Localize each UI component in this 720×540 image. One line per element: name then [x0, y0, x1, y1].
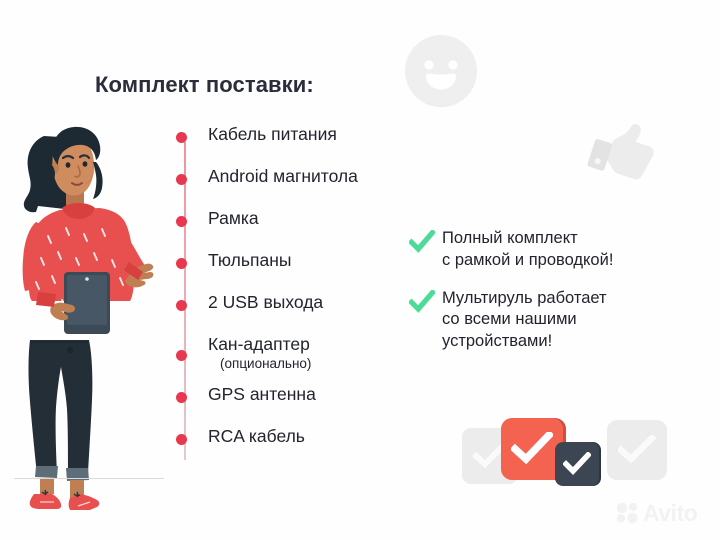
check-mark-icon	[409, 290, 435, 314]
checkbox-card-gray-right	[607, 420, 667, 480]
bullet-dot-icon	[176, 216, 187, 227]
check-mark-icon	[618, 435, 656, 465]
bullet-dot-icon	[176, 132, 187, 143]
kit-list: Кабель питания Android магнитола Рамка Т…	[176, 126, 416, 470]
page-title: Комплект поставки:	[95, 72, 314, 98]
list-item-label: Кан-адаптер(опционально)	[208, 336, 311, 370]
list-item: GPS антенна	[176, 386, 416, 428]
avito-logo-icon	[616, 502, 640, 524]
bullet-dot-icon	[176, 300, 187, 311]
list-item: Тюльпаны	[176, 252, 416, 294]
list-item: Рамка	[176, 210, 416, 252]
bullet-dot-icon	[176, 392, 187, 403]
benefits-list: Полный комплект с рамкой и проводкой! Му…	[409, 228, 709, 369]
smiley-face-icon	[404, 34, 478, 108]
list-item: 2 USB выхода	[176, 294, 416, 336]
promo-banner: Avito Комплект поставки: Кабель питания …	[0, 0, 720, 540]
bullet-dot-icon	[176, 434, 187, 445]
checkbox-cards-illustration	[462, 414, 652, 494]
benefit-item: Мультируль работает со всеми нашими устр…	[409, 288, 709, 353]
list-item-sublabel: (опционально)	[220, 357, 311, 371]
list-item-label: Рамка	[208, 210, 259, 228]
list-item-label: Тюльпаны	[208, 252, 291, 270]
check-mark-icon	[563, 452, 591, 476]
benefit-label: Полный комплект с рамкой и проводкой!	[442, 228, 613, 272]
list-item: Android магнитола	[176, 168, 416, 210]
bullet-dot-icon	[176, 174, 187, 185]
benefit-item: Полный комплект с рамкой и проводкой!	[409, 228, 709, 272]
check-mark-icon	[511, 432, 553, 466]
list-item: RCA кабель	[176, 428, 416, 470]
list-item-label: 2 USB выхода	[208, 294, 323, 312]
list-item: Кан-адаптер(опционально)	[176, 336, 416, 386]
checkbox-card-dark	[555, 442, 599, 486]
list-item-label: Android магнитола	[208, 168, 358, 186]
bullet-dot-icon	[176, 350, 187, 361]
list-item-label: Кабель питания	[208, 126, 337, 144]
avito-watermark: Avito	[616, 500, 712, 526]
avatar	[8, 110, 173, 510]
list-item-label: RCA кабель	[208, 428, 305, 446]
list-item: Кабель питания	[176, 126, 416, 168]
check-mark-icon	[409, 230, 435, 254]
thumbs-up-icon	[578, 112, 670, 204]
bullet-dot-icon	[176, 258, 187, 269]
benefit-label: Мультируль работает со всеми нашими устр…	[442, 288, 607, 353]
avito-wordmark: Avito	[643, 502, 697, 525]
ground-line	[14, 478, 164, 479]
checkbox-card-red	[501, 418, 563, 480]
list-item-label: GPS антенна	[208, 386, 316, 404]
